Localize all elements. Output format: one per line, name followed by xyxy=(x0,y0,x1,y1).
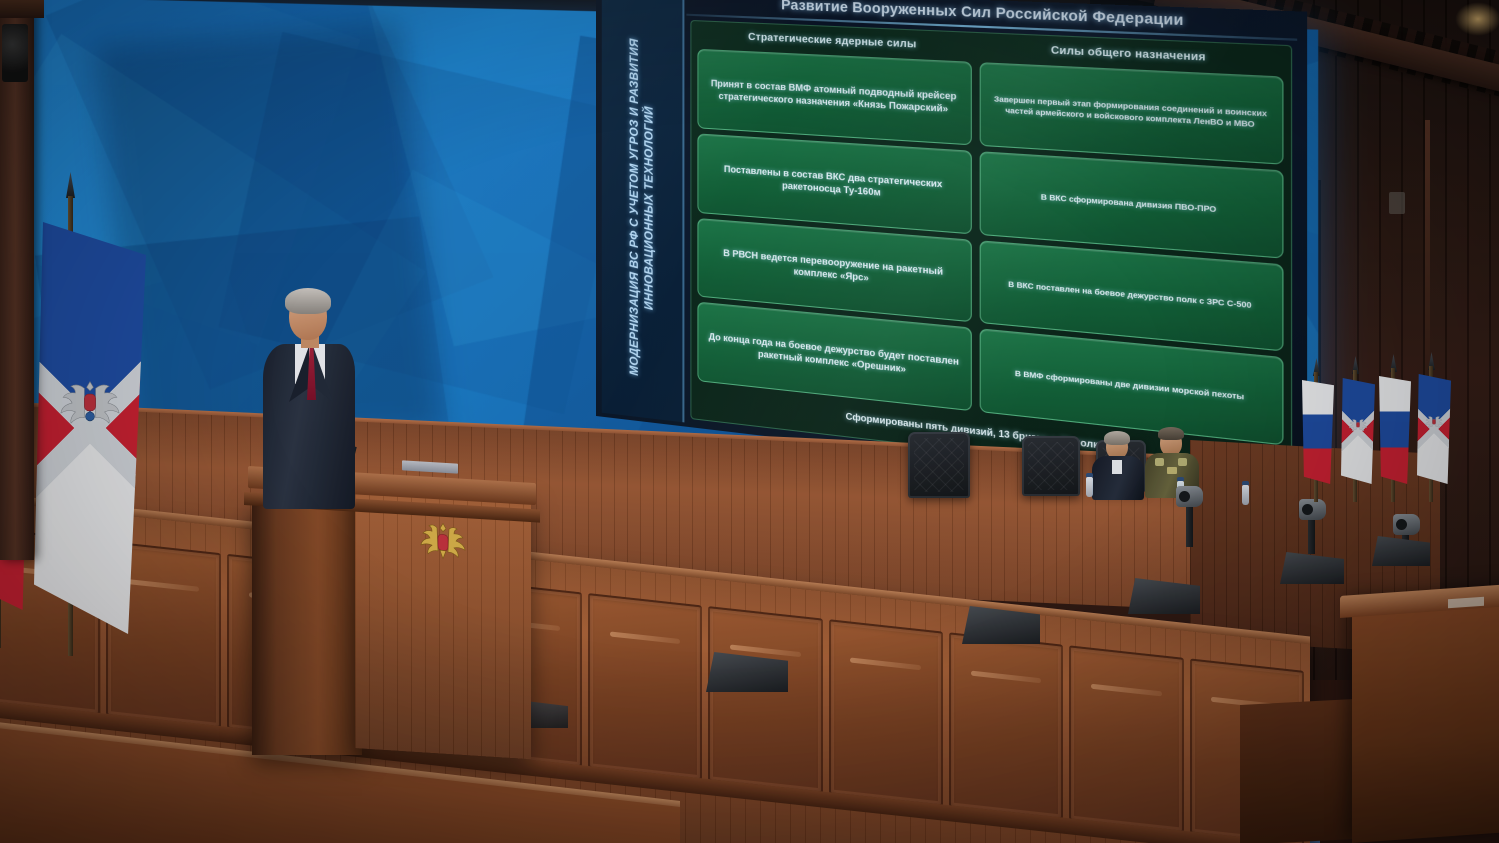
flag-ministry-of-defence xyxy=(34,222,146,634)
mod-eagle-emblem-icon xyxy=(56,379,123,428)
hair xyxy=(1104,431,1130,445)
desk-panel xyxy=(1069,645,1183,832)
bottle-cap xyxy=(1086,473,1093,477)
slide-item-text: Завершен первый этап формирования соедин… xyxy=(989,94,1272,130)
speaker-figure xyxy=(245,292,365,507)
slide-item-text: В ВКС поставлен на боевое дежурство полк… xyxy=(1008,279,1251,310)
slide-item-text: До конца года на боевое дежурство будет … xyxy=(706,330,961,381)
camera-lens-icon xyxy=(1302,504,1313,515)
presidium-chair[interactable] xyxy=(908,432,970,498)
speaker-hair xyxy=(285,288,331,314)
flag-russian-tricolour xyxy=(1379,376,1411,484)
slide-item: Поставлены в состав ВКС два стратегическ… xyxy=(697,133,971,234)
slide-item: Завершен первый этап формирования соедин… xyxy=(979,62,1283,164)
slide-column-strategic-nuclear: Стратегические ядерные силы Принят в сос… xyxy=(697,27,971,411)
slide-item: Принят в состав ВМФ атомный подводный кр… xyxy=(697,49,971,145)
water-bottle[interactable] xyxy=(1242,485,1249,505)
seated-civilian-official xyxy=(1090,434,1146,498)
foreground-desk xyxy=(1352,586,1499,843)
camera-lens-icon xyxy=(1396,519,1407,530)
slide-item-text: В РВСН ведется перевооружение на ракетны… xyxy=(706,246,961,293)
ceiling-spotlight-glow xyxy=(1455,2,1499,36)
slide-item: В ВКС сформирована дивизия ПВО-ПРО xyxy=(979,151,1283,258)
podium-front xyxy=(355,486,531,759)
double-headed-eagle-emblem-icon xyxy=(413,516,473,569)
uniform-insignia xyxy=(1167,467,1177,474)
shirt xyxy=(1112,460,1122,474)
desk-panel xyxy=(829,619,943,806)
hair xyxy=(1158,427,1184,440)
flag-russian-tricolour xyxy=(1302,380,1334,484)
wall-plate xyxy=(1389,192,1405,214)
slide-item-text: В ВКС сформирована дивизия ПВО-ПРО xyxy=(1041,192,1216,215)
flag-ministry-of-defence xyxy=(1417,374,1451,484)
side-banner-text: МОДЕРНИЗАЦИЯ ВС РФ С УЧЕТОМ УГРОЗ И РАЗВ… xyxy=(628,0,657,420)
slide-content-frame: Стратегические ядерные силы Принят в сос… xyxy=(690,20,1292,489)
bottle-cap xyxy=(1177,477,1184,481)
slide-item-text: Поставлены в состав ВКС два стратегическ… xyxy=(706,161,961,204)
mod-eagle-emblem-icon xyxy=(1424,415,1444,430)
slide-column-general-purpose: Силы общего назначения Завершен первый э… xyxy=(979,40,1283,446)
flag-ministry-of-defence xyxy=(1341,378,1375,484)
slide-item-text: Принят в состав ВМФ атомный подводный кр… xyxy=(706,77,961,116)
bottle-cap xyxy=(1242,481,1249,485)
pillar-cap xyxy=(0,0,44,18)
shoulder-board xyxy=(1155,458,1164,466)
slide-item-text: В ВМФ сформированы две дивизии морской п… xyxy=(1015,369,1244,403)
slide-side-banner: МОДЕРНИЗАЦИЯ ВС РФ С УЧЕТОМ УГРОЗ И РАЗВ… xyxy=(602,0,685,422)
desk-panel xyxy=(949,632,1063,819)
mod-eagle-emblem-icon xyxy=(1348,417,1368,432)
camera-lens-icon xyxy=(1179,491,1190,502)
desk-panel xyxy=(708,606,822,793)
wall-speaker xyxy=(2,24,28,82)
podium-side xyxy=(252,500,362,755)
left-wall-pillar xyxy=(0,0,34,560)
shoulder-board xyxy=(1178,458,1187,466)
presidium-chair[interactable] xyxy=(1022,436,1080,496)
desk-panel xyxy=(588,593,702,780)
water-bottle[interactable] xyxy=(1086,477,1093,497)
scene-root: Развитие Вооруженных Сил Российской Феде… xyxy=(0,0,1499,843)
